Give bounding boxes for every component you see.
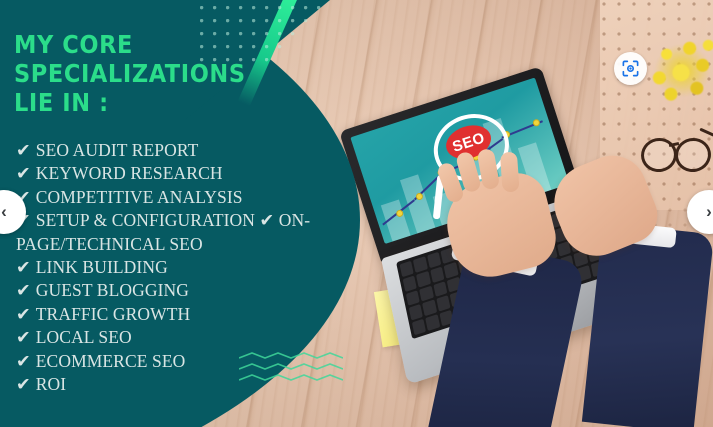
list-item: ✔ECOMMERCE SEO — [16, 350, 336, 373]
headline-line-3: LIE IN : — [14, 88, 274, 117]
headline: MY CORE SPECIALIZATIONS LIE IN : — [14, 30, 274, 117]
image-carousel-slide: SEO — [0, 0, 713, 427]
list-item-label: TRAFFIC GROWTH — [36, 304, 191, 324]
list-item-label: LOCAL SEO — [36, 327, 132, 347]
list-item: ✔GUEST BLOGGING — [16, 279, 336, 302]
list-item-label: SETUP & CONFIGURATION ✔ ON-PAGE/TECHNICA… — [16, 210, 310, 253]
list-item-label: KEYWORD RESEARCH — [36, 163, 223, 183]
list-item: ✔LOCAL SEO — [16, 326, 336, 349]
list-item: ✔TRAFFIC GROWTH — [16, 303, 336, 326]
google-lens-icon — [621, 59, 640, 78]
list-item: ✔SETUP & CONFIGURATION ✔ ON-PAGE/TECHNIC… — [16, 209, 336, 256]
specializations-list: ✔SEO AUDIT REPORT ✔KEYWORD RESEARCH ✔COM… — [16, 139, 336, 396]
check-icon: ✔ — [16, 257, 31, 277]
list-item: ✔SEO AUDIT REPORT — [16, 139, 336, 162]
check-icon: ✔ — [16, 374, 31, 394]
list-item-label: COMPETITIVE ANALYSIS — [36, 187, 243, 207]
list-item: ✔ROI — [16, 373, 336, 396]
list-item: ✔LINK BUILDING — [16, 256, 336, 279]
chevron-right-icon: › — [706, 202, 712, 222]
list-item-label: GUEST BLOGGING — [36, 280, 189, 300]
google-lens-button[interactable] — [614, 52, 647, 85]
list-item: ✔KEYWORD RESEARCH — [16, 162, 336, 185]
check-icon: ✔ — [16, 163, 31, 183]
check-icon: ✔ — [16, 327, 31, 347]
headline-line-2: SPECIALIZATIONS — [14, 59, 274, 88]
check-icon: ✔ — [16, 351, 31, 371]
headline-line-1: MY CORE — [14, 30, 274, 59]
check-icon: ✔ — [16, 280, 31, 300]
list-item-label: SEO AUDIT REPORT — [36, 140, 199, 160]
chevron-left-icon: ‹ — [1, 202, 7, 222]
check-icon: ✔ — [16, 304, 31, 324]
check-icon: ✔ — [16, 140, 31, 160]
list-item: ✔COMPETITIVE ANALYSIS — [16, 186, 336, 209]
list-item-label: LINK BUILDING — [36, 257, 168, 277]
list-item-label: ROI — [36, 374, 66, 394]
list-item-label: ECOMMERCE SEO — [36, 351, 186, 371]
